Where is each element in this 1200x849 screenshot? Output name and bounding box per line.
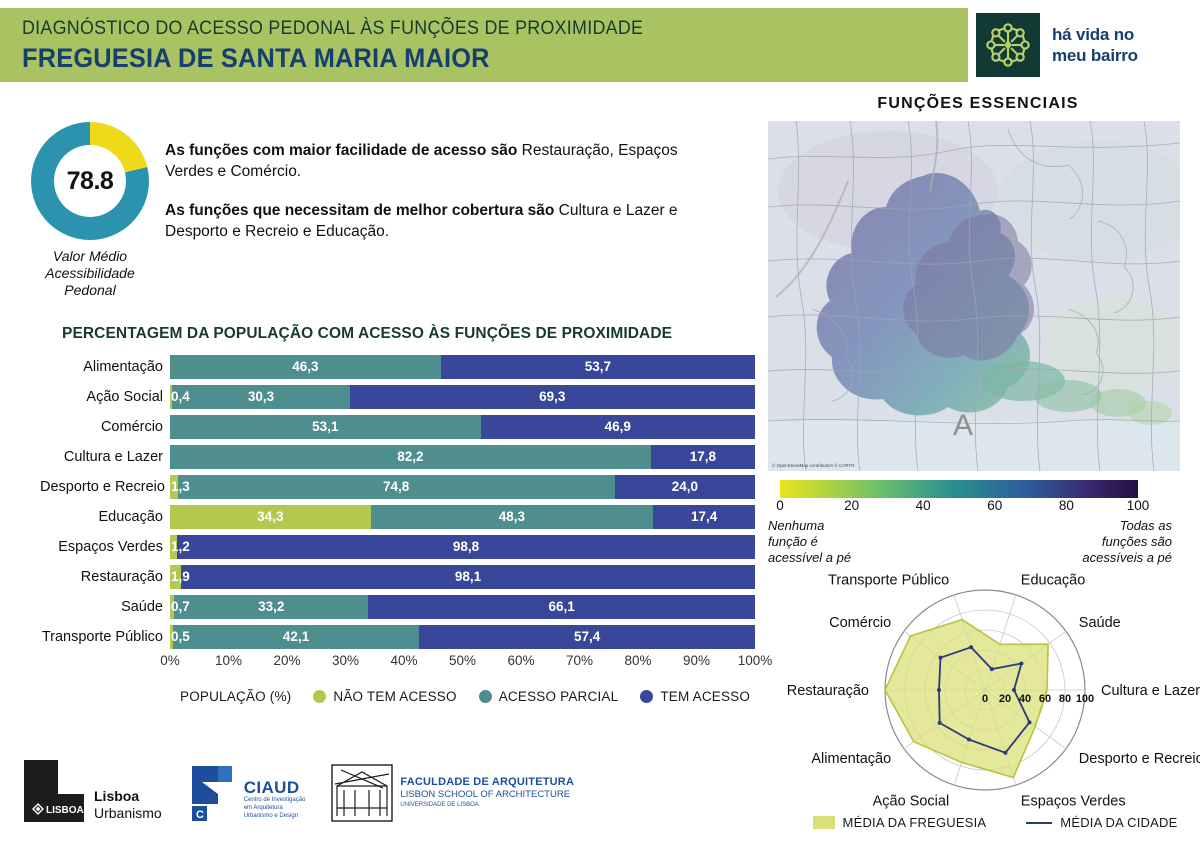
bar-segment-partial: 46,3 <box>170 355 441 379</box>
bar-row: Comércio53,146,9 <box>40 413 755 440</box>
colorbar-note-low: Nenhuma função é acessível a pé <box>768 518 851 566</box>
bar-row-label: Ação Social <box>40 389 170 405</box>
legend-item-tem-acesso: TEM ACESSO <box>640 689 750 704</box>
legend-dot-icon-partial <box>479 690 492 703</box>
bar-row: Alimentação46,353,7 <box>40 353 755 380</box>
bar-row: Saúde0,733,266,1 <box>40 593 755 620</box>
bar-segment-value: 30,3 <box>248 389 274 404</box>
x-axis-tick: 50% <box>449 653 476 668</box>
lisboa-wordmark-line-2: Urbanismo <box>94 805 162 821</box>
intro-paragraph-2: As funções que necessitam de melhor cobe… <box>165 200 725 242</box>
bar-chart-rows: Alimentação46,353,7Ação Social0,430,369,… <box>40 353 755 650</box>
intro-p2-bold: As funções que necessitam de melhor cobe… <box>165 202 559 219</box>
radar-legend-label-cidade: MÉDIA DA CIDADE <box>1060 815 1177 830</box>
bar-chart-legend: POPULAÇÃO (%) NÃO TEM ACESSO ACESSO PARC… <box>40 689 755 704</box>
map-area-label: A <box>953 409 973 443</box>
radar-axis-label: Restauração <box>787 683 869 699</box>
colorbar-note-high-l2: funções são <box>1082 534 1172 550</box>
legend-label-none: NÃO TEM ACESSO <box>333 689 456 704</box>
ciaud-logo-group: C CIAUD Centro de Investigação em Arquit… <box>188 760 306 822</box>
bar-segment-partial: 30,3 <box>172 385 349 409</box>
x-axis-tick: 30% <box>332 653 359 668</box>
donut-center: 78.8 <box>54 145 126 217</box>
bar-segment-value: 98,1 <box>455 569 481 584</box>
bar-row-track: 0,733,266,1 <box>170 595 755 619</box>
ciaud-subtitle: Centro de Investigação em Arquitetura Ur… <box>244 796 306 820</box>
radar-data-point <box>1019 662 1023 666</box>
donut-caption: Valor Médio Acessibilidade Pedonal <box>30 248 150 299</box>
radar-axis-label: Transporte Público <box>828 573 949 589</box>
radar-data-point <box>939 656 943 660</box>
svg-text:LISBOA: LISBOA <box>46 805 84 816</box>
intro-p1-bold: As funções com maior facilidade de acess… <box>165 142 522 159</box>
faculdade-text-block: FACULDADE DE ARQUITETURA LISBON SCHOOL O… <box>400 776 574 810</box>
bar-segment-value: 57,4 <box>574 629 600 644</box>
colorbar-note-low-l3: acessível a pé <box>768 550 851 566</box>
bar-row: Cultura e Lazer82,217,8 <box>40 443 755 470</box>
faculdade-line-3: UNIVERSIDADE DE LISBOA <box>400 801 574 810</box>
bar-segment-value: 1,9 <box>171 569 181 584</box>
bar-row-track: 0,542,157,4 <box>170 625 755 649</box>
intro-paragraph-1: As funções com maior facilidade de acess… <box>165 140 725 182</box>
page-header: DIAGNÓSTICO DO ACESSO PEDONAL ÀS FUNÇÕES… <box>0 8 1200 82</box>
colorbar-note-low-l2: função é <box>768 534 851 550</box>
bar-segment-value: 46,9 <box>605 419 631 434</box>
colorbar-tick: 20 <box>844 498 859 513</box>
radar-legend-line-icon-cidade <box>1026 822 1052 824</box>
bar-segment-full: 66,1 <box>368 595 755 619</box>
ciaud-name: CIAUD <box>244 779 306 796</box>
bar-row-label: Educação <box>40 509 170 525</box>
colorbar-tick: 100 <box>1127 498 1150 513</box>
x-axis-tick: 60% <box>507 653 534 668</box>
accessibility-score-widget: 78.8 Valor Médio Acessibilidade Pedonal <box>30 122 150 299</box>
bar-row: Transporte Público0,542,157,4 <box>40 623 755 650</box>
legend-item-nao-tem-acesso: NÃO TEM ACESSO <box>313 689 456 704</box>
bar-segment-value: 42,1 <box>283 629 309 644</box>
bar-row: Espaços Verdes1,298,8 <box>40 533 755 560</box>
bar-row-track: 1,998,1 <box>170 565 755 589</box>
donut-caption-line-1: Valor Médio <box>30 248 150 265</box>
bar-row-track: 46,353,7 <box>170 355 755 379</box>
bar-row-track: 1,374,824,0 <box>170 475 755 499</box>
bar-segment-value: 24,0 <box>672 479 698 494</box>
ciaud-mark-icon: C <box>188 760 240 822</box>
bar-segment-full: 57,4 <box>419 625 755 649</box>
radar-data-point <box>967 737 971 741</box>
legend-item-acesso-parcial: ACESSO PARCIAL <box>479 689 619 704</box>
radar-data-point <box>1003 751 1007 755</box>
radar-axis-label: Saúde <box>1079 615 1121 631</box>
bar-segment-value: 69,3 <box>539 389 565 404</box>
bar-row: Educação34,348,317,4 <box>40 503 755 530</box>
bar-segment-full: 17,8 <box>651 445 755 469</box>
bar-segment-partial: 42,1 <box>173 625 419 649</box>
x-axis-tick: 90% <box>683 653 710 668</box>
bar-segment-none: 1,2 <box>170 535 177 559</box>
colorbar-notes: Nenhuma função é acessível a pé Todas as… <box>768 518 1172 566</box>
radar-r-tick: 40 <box>1019 693 1031 705</box>
x-axis-tick: 40% <box>390 653 417 668</box>
lisboa-wordmark: Lisboa Urbanismo <box>94 788 162 822</box>
radar-axis-label: Ação Social <box>873 793 950 809</box>
bar-row-label: Saúde <box>40 599 170 615</box>
bar-segment-full: 24,0 <box>615 475 755 499</box>
bar-segment-value: 66,1 <box>549 599 575 614</box>
bar-segment-value: 33,2 <box>258 599 284 614</box>
colorbar-tick: 40 <box>916 498 931 513</box>
brand-wordmark: há vida no meu bairro <box>1052 24 1138 66</box>
architecture-building-icon <box>331 764 393 822</box>
bar-segment-partial: 82,2 <box>170 445 651 469</box>
bar-segment-none: 1,3 <box>170 475 178 499</box>
bar-row: Restauração1,998,1 <box>40 563 755 590</box>
bar-segment-full: 98,8 <box>177 535 755 559</box>
radar-data-point <box>1012 688 1016 692</box>
ciaud-subtitle-l1: Centro de Investigação <box>244 796 306 804</box>
bar-segment-value: 0,5 <box>171 629 173 644</box>
radar-legend-item-cidade: MÉDIA DA CIDADE <box>1026 815 1177 830</box>
radar-r-tick: 0 <box>982 693 988 705</box>
bar-row-track: 34,348,317,4 <box>170 505 755 529</box>
bar-segment-value: 17,8 <box>690 449 716 464</box>
bar-chart-x-axis: 0%10%20%30%40%50%60%70%80%90%100% <box>170 653 755 673</box>
bar-segment-value: 48,3 <box>499 509 525 524</box>
bar-row-track: 53,146,9 <box>170 415 755 439</box>
bar-segment-value: 0,4 <box>171 389 172 404</box>
brand-logo: há vida no meu bairro <box>968 8 1200 82</box>
radar-data-point <box>938 721 942 725</box>
bar-segment-partial: 48,3 <box>371 505 654 529</box>
radar-legend-label-freguesia: MÉDIA DA FREGUESIA <box>843 815 987 830</box>
radar-data-point <box>1027 720 1031 724</box>
bar-segment-partial: 74,8 <box>178 475 615 499</box>
x-axis-tick: 10% <box>215 653 242 668</box>
bar-segment-value: 34,3 <box>257 509 283 524</box>
bar-row-label: Transporte Público <box>40 629 170 645</box>
bar-segment-full: 46,9 <box>481 415 755 439</box>
ciaud-subtitle-l2: em Arquitetura <box>244 804 306 812</box>
bar-row-label: Desporto e Recreio <box>40 479 170 495</box>
colorbar-gradient <box>780 480 1138 498</box>
colorbar-tick: 60 <box>987 498 1002 513</box>
bar-row: Desporto e Recreio1,374,824,0 <box>40 473 755 500</box>
x-axis-tick: 70% <box>566 653 593 668</box>
page-title: FREGUESIA DE SANTA MARIA MAIOR <box>22 42 643 74</box>
colorbar-note-high-l3: acessíveis a pé <box>1082 550 1172 566</box>
header-text-block: DIAGNÓSTICO DO ACESSO PEDONAL ÀS FUNÇÕES… <box>22 16 683 74</box>
svg-text:C: C <box>196 809 204 821</box>
lisboa-logo-group: LISBOA Lisboa Urbanismo <box>24 760 162 822</box>
legend-label-partial: ACESSO PARCIAL <box>499 689 619 704</box>
radar-data-point <box>937 688 941 692</box>
network-nodes-icon <box>976 13 1040 77</box>
intro-text-block: As funções com maior facilidade de acess… <box>165 140 725 260</box>
lisboa-wordmark-line-1: Lisboa <box>94 788 162 805</box>
bar-segment-value: 1,3 <box>171 479 178 494</box>
bar-segment-none: 34,3 <box>170 505 371 529</box>
colorbar-tick: 80 <box>1059 498 1074 513</box>
bar-row: Ação Social0,430,369,3 <box>40 383 755 410</box>
bar-segment-value: 17,4 <box>691 509 717 524</box>
radar-axis-label: Educação <box>1021 573 1086 589</box>
bar-row-label: Restauração <box>40 569 170 585</box>
radar-axis-label: Cultura e Lazer <box>1101 683 1200 699</box>
radar-chart-legend: MÉDIA DA FREGUESIA MÉDIA DA CIDADE <box>790 815 1200 830</box>
bar-segment-value: 98,8 <box>453 539 479 554</box>
radar-data-point <box>969 645 973 649</box>
bar-segment-partial: 53,1 <box>170 415 481 439</box>
radar-legend-item-freguesia: MÉDIA DA FREGUESIA <box>813 815 987 830</box>
legend-dot-icon-none <box>313 690 326 703</box>
colorbar-ticks: 020406080100 <box>780 498 1138 516</box>
bar-chart-section: PERCENTAGEM DA POPULAÇÃO COM ACESSO ÀS F… <box>40 325 755 704</box>
bar-segment-value: 82,2 <box>397 449 423 464</box>
brand-line-1: há vida no <box>1052 24 1138 45</box>
faculdade-line-1: FACULDADE DE ARQUITETURA <box>400 776 574 789</box>
radar-r-tick: 60 <box>1039 693 1051 705</box>
donut-caption-line-2: Acessibilidade <box>30 265 150 282</box>
bar-segment-partial: 33,2 <box>174 595 368 619</box>
bar-legend-axis-label: POPULAÇÃO (%) <box>180 689 291 704</box>
ciaud-text-block: CIAUD Centro de Investigação em Arquitet… <box>244 779 306 822</box>
bar-segment-full: 69,3 <box>350 385 755 409</box>
bar-chart-title: PERCENTAGEM DA POPULAÇÃO COM ACESSO ÀS F… <box>40 325 755 343</box>
faculdade-arquitetura-logo-group: FACULDADE DE ARQUITETURA LISBON SCHOOL O… <box>331 764 574 822</box>
x-axis-tick: 100% <box>738 653 773 668</box>
map-attribution: © OpenStreetMap contributors © CARTO <box>772 463 855 468</box>
donut-chart: 78.8 <box>31 122 149 240</box>
lisboa-logo-icon: LISBOA <box>24 760 84 822</box>
bar-segment-value: 53,7 <box>585 359 611 374</box>
radar-chart[interactable]: 020406080100EducaçãoSaúdeCultura e Lazer… <box>770 572 1200 812</box>
bar-segment-value: 1,2 <box>171 539 177 554</box>
bar-row-label: Cultura e Lazer <box>40 449 170 465</box>
x-axis-tick: 0% <box>160 653 180 668</box>
x-axis-tick: 20% <box>273 653 300 668</box>
bar-segment-full: 17,4 <box>653 505 755 529</box>
map-section: FUNÇÕES ESSENCIAIS <box>768 95 1188 566</box>
bar-segment-value: 46,3 <box>292 359 318 374</box>
radar-r-tick: 100 <box>1076 693 1094 705</box>
brand-line-2: meu bairro <box>1052 45 1138 66</box>
bar-segment-value: 53,1 <box>312 419 338 434</box>
header-subtitle: DIAGNÓSTICO DO ACESSO PEDONAL ÀS FUNÇÕES… <box>22 16 643 42</box>
donut-value: 78.8 <box>67 167 114 196</box>
bar-segment-none: 1,9 <box>170 565 181 589</box>
accessibility-heatmap[interactable]: A © OpenStreetMap contributors © CARTO <box>768 121 1180 471</box>
radar-axis-label: Alimentação <box>811 751 891 767</box>
bar-segment-full: 53,7 <box>441 355 755 379</box>
footer-logos: LISBOA Lisboa Urbanismo C CIAUD Centro d… <box>24 760 574 822</box>
bar-row-label: Espaços Verdes <box>40 539 170 555</box>
colorbar-note-high: Todas as funções são acessíveis a pé <box>1082 518 1172 566</box>
colorbar-note-low-l1: Nenhuma <box>768 518 851 534</box>
radar-r-tick: 80 <box>1059 693 1071 705</box>
radar-axis-label: Desporto e Recreio <box>1079 751 1200 767</box>
radar-r-tick: 20 <box>999 693 1011 705</box>
ciaud-subtitle-l3: Urbanismo e Design <box>244 812 306 820</box>
bar-row-track: 82,217,8 <box>170 445 755 469</box>
bar-row-track: 1,298,8 <box>170 535 755 559</box>
radar-axis-label: Comércio <box>829 615 891 631</box>
legend-label-full: TEM ACESSO <box>660 689 750 704</box>
bar-segment-full: 98,1 <box>181 565 755 589</box>
map-title: FUNÇÕES ESSENCIAIS <box>768 95 1188 113</box>
radar-data-point <box>990 667 994 671</box>
radar-axis-label: Espaços Verdes <box>1021 793 1126 809</box>
bar-segment-value: 74,8 <box>383 479 409 494</box>
map-road-network <box>768 121 1180 471</box>
bar-row-label: Comércio <box>40 419 170 435</box>
radar-legend-swatch-icon-freguesia <box>813 816 835 829</box>
bar-segment-value: 0,7 <box>171 599 174 614</box>
donut-caption-line-3: Pedonal <box>30 282 150 299</box>
faculdade-line-2: LISBON SCHOOL OF ARCHITECTURE <box>400 789 574 801</box>
colorbar-tick: 0 <box>776 498 784 513</box>
x-axis-tick: 80% <box>624 653 651 668</box>
bar-row-label: Alimentação <box>40 359 170 375</box>
legend-dot-icon-full <box>640 690 653 703</box>
colorbar-note-high-l1: Todas as <box>1082 518 1172 534</box>
radar-chart-section: 020406080100EducaçãoSaúdeCultura e Lazer… <box>770 572 1200 842</box>
bar-row-track: 0,430,369,3 <box>170 385 755 409</box>
